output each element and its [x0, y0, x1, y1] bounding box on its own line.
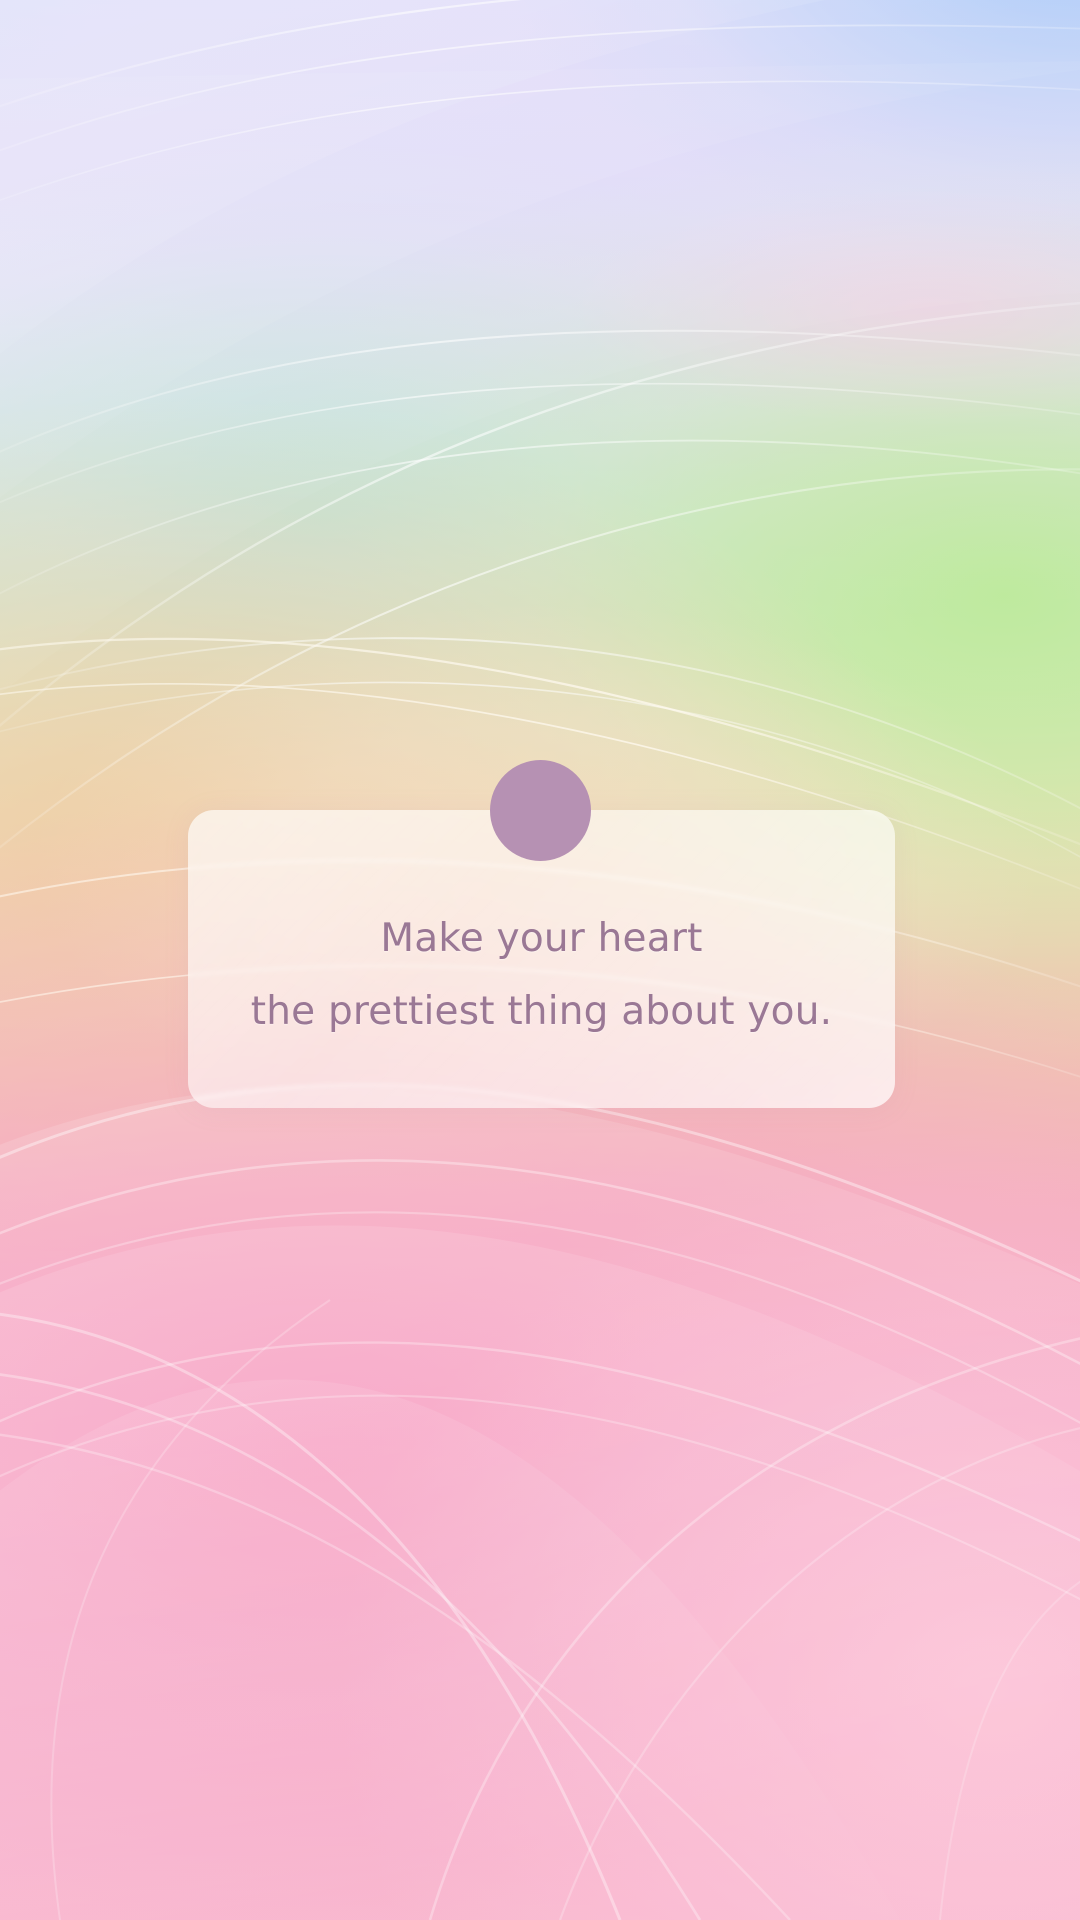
- quote-text: Make your heart the prettiest thing abou…: [215, 911, 868, 1040]
- wallpaper-canvas: Make your heart the prettiest thing abou…: [0, 0, 1080, 1920]
- circle-avatar-icon: [490, 760, 591, 861]
- quote-line-1: Make your heart: [251, 911, 832, 968]
- quote-line-2: the prettiest thing about you.: [251, 984, 832, 1041]
